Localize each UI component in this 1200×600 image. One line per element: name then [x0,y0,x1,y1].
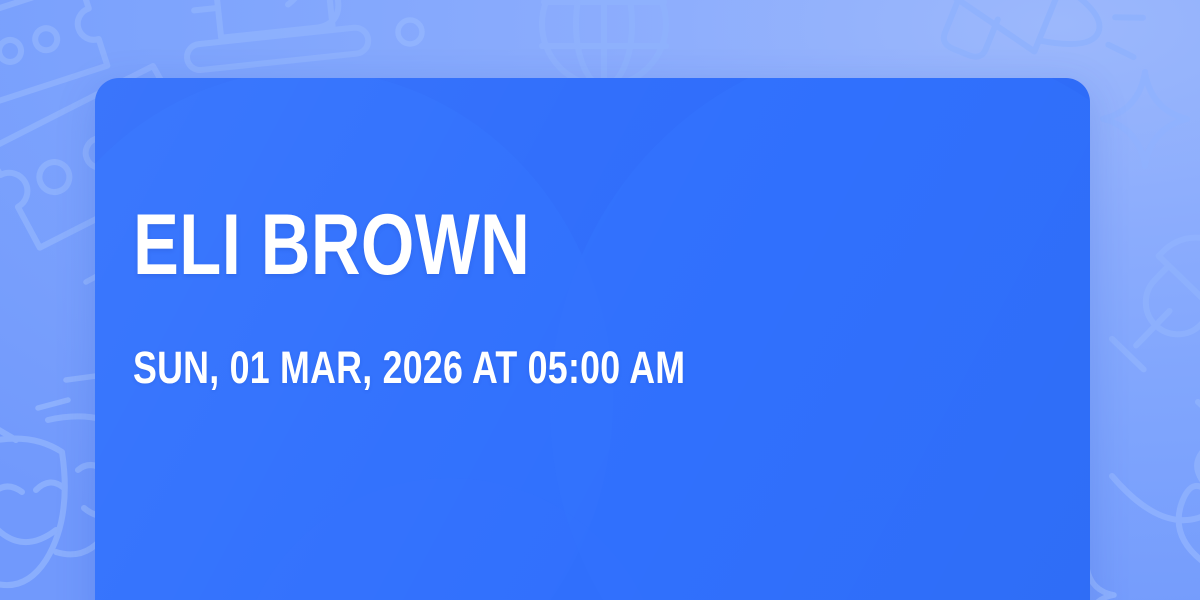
event-banner: ELI BROWN SUN, 01 MAR, 2026 AT 05:00 AM [0,0,1200,600]
event-title: ELI BROWN [133,206,530,285]
streamer-icon [1102,418,1200,600]
dot-icon [392,14,428,50]
card-content: ELI BROWN SUN, 01 MAR, 2026 AT 05:00 AM [133,78,1050,600]
microphone-icon [1112,208,1200,388]
sparkle-icon [1090,62,1200,177]
event-card[interactable]: ELI BROWN SUN, 01 MAR, 2026 AT 05:00 AM [95,78,1090,600]
event-datetime: SUN, 01 MAR, 2026 AT 05:00 AM [133,345,685,390]
